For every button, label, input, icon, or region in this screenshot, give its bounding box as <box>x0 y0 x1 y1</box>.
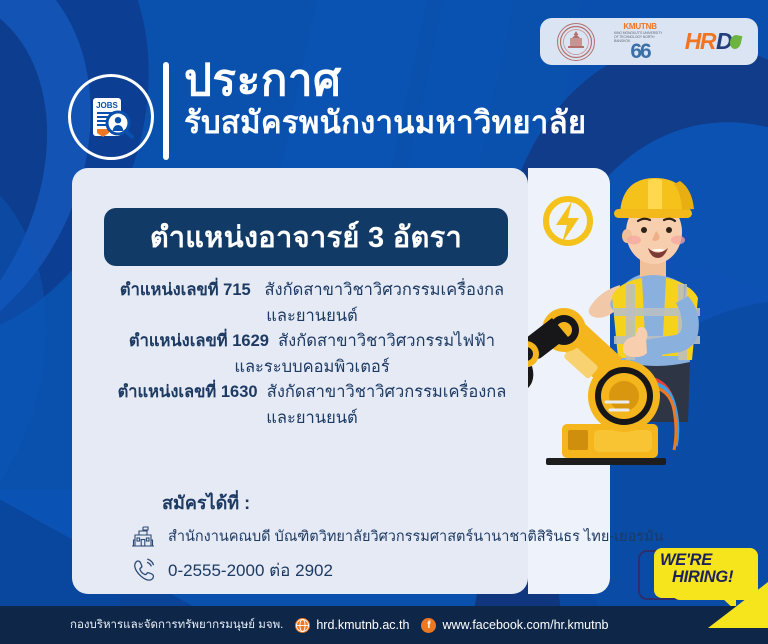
engineer-illustration <box>528 168 768 594</box>
kmutnb-royal-seal-icon <box>557 23 595 61</box>
position-title-pill: ตำแหน่งอาจารย์ 3 อัตรา <box>104 208 508 266</box>
list-item: ตำแหน่งเลขที่ 1630 สังกัดสาขาวิชาวิศวกรร… <box>92 380 532 406</box>
kmutnb-wordmark: KMUTNB <box>623 22 656 31</box>
position-dept-1: สังกัดสาขาวิชาวิศวกรรมเครื่องกล <box>264 281 504 299</box>
facebook-icon: f <box>421 618 436 633</box>
contact-row-phone: 0-2555-2000 ต่อ 2902 <box>128 555 528 585</box>
svg-text:JOBS: JOBS <box>96 101 118 110</box>
footer-website-url: hrd.kmutnb.ac.th <box>316 618 409 632</box>
footer-website[interactable]: hrd.kmutnb.ac.th <box>295 618 409 633</box>
hiring-line-1: WE'RE <box>660 551 712 569</box>
position-number-3: ตำแหน่งเลขที่ 1630 <box>118 383 258 401</box>
phone-ringing-icon <box>128 555 158 585</box>
jobs-document-search-icon: JOBS <box>82 88 140 146</box>
contact-row-office: สำนักงานคณบดี บัณฑิตวิทยาลัยวิศวกรรมศาสต… <box>128 521 528 551</box>
footer-bar: กองบริหารและจัดการทรัพยากรมนุษย์ มจพ. hr… <box>0 606 768 644</box>
hrd-logo: HR D <box>685 28 741 55</box>
position-number-2: ตำแหน่งเลขที่ 1629 <box>129 332 269 350</box>
kmutnb-anniversary-logo: KMUTNB KING MONGKUT'S UNIVERSITY OF TECH… <box>614 22 666 62</box>
hiring-badge: WE'RE HIRING! <box>632 546 762 608</box>
position-dept-3-cont: และยานยนต์ <box>92 406 532 432</box>
list-item: ตำแหน่งเลขที่ 715 สังกัดสาขาวิชาวิศวกรรม… <box>92 278 532 304</box>
page-title: ประกาศ <box>184 58 586 104</box>
hrd-hr-text: HR <box>685 28 715 55</box>
position-dept-3: สังกัดสาขาวิชาวิศวกรรมเครื่องกล <box>267 383 507 401</box>
hiring-badge-text: WE'RE HIRING! <box>660 552 758 587</box>
footer-department: กองบริหารและจัดการทรัพยากรมนุษย์ มจพ. <box>70 616 283 634</box>
position-dept-1-cont: และยานยนต์ <box>92 304 532 330</box>
hiring-line-2: HIRING! <box>672 569 758 586</box>
globe-icon <box>295 618 310 633</box>
kmutnb-anniversary-number: 66 <box>630 43 649 62</box>
footer-facebook[interactable]: f www.facebook.com/hr.kmutnb <box>421 618 608 633</box>
phone-number: 0-2555-2000 ต่อ 2902 <box>168 557 333 584</box>
jobs-logo-badge: JOBS <box>68 74 154 160</box>
poster-root: KMUTNB KING MONGKUT'S UNIVERSITY OF TECH… <box>0 0 768 644</box>
page-subtitle: รับสมัครพนักงานมหาวิทยาลัย <box>184 106 586 140</box>
header-divider <box>163 62 169 160</box>
list-item: ตำแหน่งเลขที่ 1629 สังกัดสาขาวิชาวิศวกรร… <box>92 329 532 355</box>
apply-contact-block: สมัครได้ที่ : <box>128 488 528 585</box>
position-dept-2-cont: และระบบคอมพิวเตอร์ <box>92 355 532 381</box>
position-dept-2: สังกัดสาขาวิชาวิศวกรรมไฟฟ้า <box>278 332 495 350</box>
apply-heading: สมัครได้ที่ : <box>162 488 528 517</box>
footer-facebook-url: www.facebook.com/hr.kmutnb <box>442 618 608 632</box>
position-number-1: ตำแหน่งเลขที่ 715 <box>120 281 251 299</box>
position-title-text: ตำแหน่งอาจารย์ 3 อัตรา <box>150 214 462 260</box>
lightning-bolt-icon <box>546 199 590 243</box>
building-icon <box>128 521 158 551</box>
position-list: ตำแหน่งเลขที่ 715 สังกัดสาขาวิชาวิศวกรรม… <box>92 278 532 431</box>
header-title-block: ประกาศ รับสมัครพนักงานมหาวิทยาลัย <box>184 58 586 140</box>
